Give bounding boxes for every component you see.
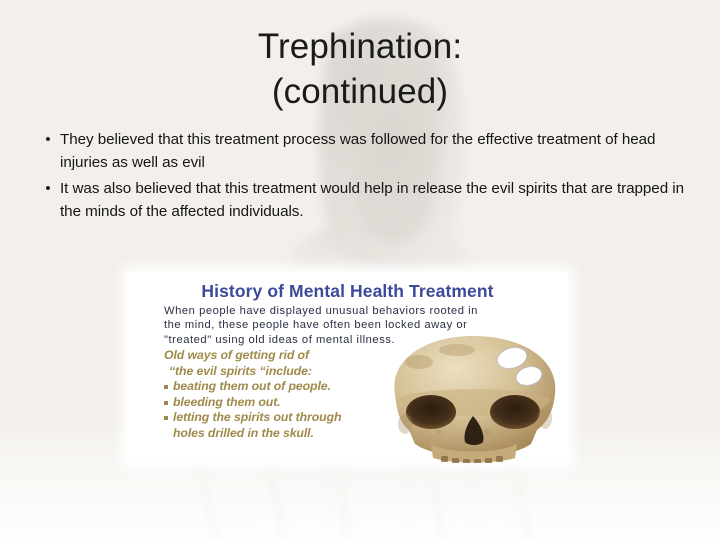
infographic-image: History of Mental Health Treatment When … — [127, 272, 568, 463]
list-item: • They believed that this treatment proc… — [36, 128, 684, 174]
slide-canvas: Trephination: (continued) • They believe… — [0, 0, 720, 540]
bullet-text: It was also believed that this treatment… — [60, 177, 684, 223]
bullet-dot-icon: • — [36, 177, 60, 200]
infographic-oldways-block: Old ways of getting rid of “the evil spi… — [164, 348, 369, 442]
oldways-lead-line-1: Old ways of getting rid of — [164, 348, 309, 362]
oldways-item: beating them out of people. — [164, 379, 369, 395]
infographic-title: History of Mental Health Treatment — [127, 281, 568, 302]
bullet-dot-icon: • — [36, 128, 60, 151]
oldways-lead-line-2: “the evil spirits “include: — [164, 364, 369, 380]
title-line-2: (continued) — [0, 69, 720, 114]
bullet-text: They believed that this treatment proces… — [60, 128, 684, 174]
bullet-list: • They believed that this treatment proc… — [36, 128, 684, 226]
trephinated-skull-image — [369, 332, 568, 463]
list-item: • It was also believed that this treatme… — [36, 177, 684, 223]
title-line-1: Trephination: — [0, 24, 720, 69]
oldways-item: bleeding them out. — [164, 395, 369, 411]
slide-title: Trephination: (continued) — [0, 24, 720, 114]
oldways-item: letting the spirits out through holes dr… — [164, 410, 369, 441]
